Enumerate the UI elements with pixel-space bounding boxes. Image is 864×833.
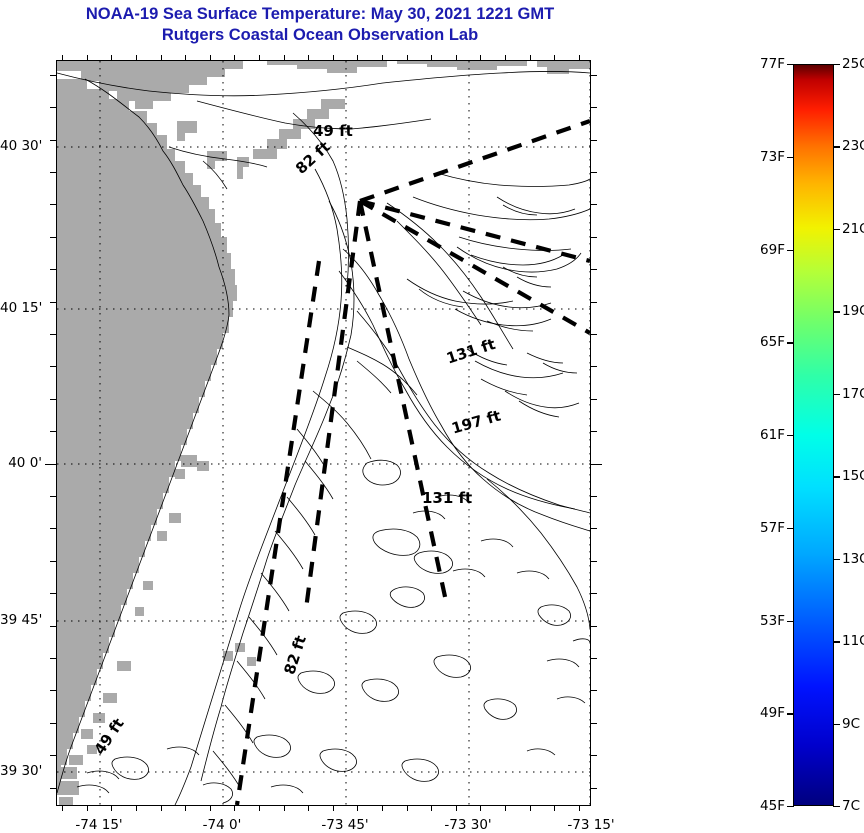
sst-map-page: NOAA-19 Sea Surface Temperature: May 30,… — [0, 0, 864, 832]
y-axis-tick — [50, 269, 56, 270]
colorbar-tick-fahrenheit — [787, 435, 794, 436]
colorbar-label-celsius: 9C — [842, 716, 860, 732]
x-axis-label: -74 15' — [75, 817, 122, 833]
colorbar-label-fahrenheit: 77F — [735, 56, 785, 72]
map-panel[interactable] — [56, 60, 591, 806]
y-axis-tick — [50, 75, 56, 76]
y-axis-label: 40 15' — [0, 300, 42, 316]
colorbar-tick-fahrenheit — [787, 250, 794, 251]
y-axis-tick — [591, 528, 597, 529]
x-axis-tick — [308, 55, 309, 60]
colorbar-tick-fahrenheit — [787, 64, 794, 65]
colorbar-tick-celsius — [833, 724, 840, 725]
y-axis-tick — [591, 788, 597, 789]
y-axis-tick — [591, 302, 597, 303]
y-axis-tick — [50, 302, 56, 303]
colorbar-tick-fahrenheit — [787, 342, 794, 343]
y-axis-tick — [591, 269, 597, 270]
x-axis-tick — [284, 55, 285, 60]
y-axis-tick — [50, 431, 56, 432]
colorbar-tick-celsius — [833, 476, 840, 477]
colorbar-tick-celsius — [833, 641, 840, 642]
page-title: NOAA-19 Sea Surface Temperature: May 30,… — [0, 4, 640, 46]
y-axis-tick — [591, 658, 597, 659]
y-axis-tick — [591, 334, 597, 335]
x-axis-tick — [357, 55, 358, 60]
x-axis-tick — [357, 806, 358, 811]
colorbar-label-celsius: 25C — [842, 56, 864, 72]
x-axis-tick — [530, 806, 531, 811]
y-axis-tick — [50, 172, 56, 173]
y-axis-tick — [591, 75, 597, 76]
x-axis-tick — [210, 55, 211, 60]
y-axis-tick — [50, 496, 56, 497]
colorbar-label-fahrenheit: 53F — [735, 613, 785, 629]
x-axis-tick — [308, 806, 309, 811]
x-axis-tick — [579, 55, 580, 60]
y-axis-tick — [50, 690, 56, 691]
x-axis-tick — [234, 55, 235, 60]
x-axis-tick — [382, 806, 383, 811]
x-axis-tick — [554, 55, 555, 60]
colorbar-label-celsius: 19C — [842, 303, 864, 319]
y-axis-tick — [591, 755, 597, 756]
x-axis-tick — [62, 55, 63, 60]
x-axis-tick — [480, 55, 481, 60]
colorbar-tick-fahrenheit — [787, 713, 794, 714]
colorbar-tick-fahrenheit — [787, 621, 794, 622]
colorbar-label-fahrenheit: 57F — [735, 520, 785, 536]
x-axis-tick — [284, 806, 285, 811]
colorbar-tick-celsius — [833, 394, 840, 395]
colorbar-tick-celsius — [833, 806, 840, 807]
y-axis-tick — [591, 464, 602, 465]
y-axis-tick — [591, 366, 597, 367]
x-axis-tick — [407, 55, 408, 60]
colorbar-tick-celsius — [833, 559, 840, 560]
y-axis-tick — [591, 172, 597, 173]
colorbar-label-fahrenheit: 69F — [735, 242, 785, 258]
y-axis-tick — [50, 658, 56, 659]
colorbar-label-fahrenheit: 73F — [735, 149, 785, 165]
y-axis-tick — [50, 561, 56, 562]
y-axis-label: 39 45' — [0, 612, 42, 628]
x-axis-tick — [161, 806, 162, 811]
colorbar-tick-fahrenheit — [787, 157, 794, 158]
x-axis-tick — [87, 806, 88, 811]
x-axis-tick — [136, 806, 137, 811]
y-axis-tick — [591, 496, 597, 497]
colorbar-tick-celsius — [833, 229, 840, 230]
y-axis-tick — [50, 593, 56, 594]
colorbar-label-fahrenheit: 61F — [735, 427, 785, 443]
x-axis-tick — [505, 55, 506, 60]
x-axis-tick — [185, 55, 186, 60]
x-axis-label: -73 15' — [567, 817, 614, 833]
colorbar-label-celsius: 11C — [842, 633, 864, 649]
x-axis-tick — [382, 55, 383, 60]
x-axis-label: -73 45' — [321, 817, 368, 833]
y-axis-tick — [591, 431, 597, 432]
y-axis-tick — [591, 723, 597, 724]
colorbar-label-celsius: 23C — [842, 138, 864, 154]
colorbar-tick-celsius — [833, 146, 840, 147]
y-axis-tick — [50, 237, 56, 238]
colorbar-tick-celsius — [833, 64, 840, 65]
colorbar-tick-fahrenheit — [787, 528, 794, 529]
x-axis-tick — [480, 806, 481, 811]
title-line-1: NOAA-19 Sea Surface Temperature: May 30,… — [0, 4, 640, 25]
y-axis-tick — [50, 626, 56, 627]
x-axis-tick — [111, 55, 112, 60]
y-axis-tick — [50, 334, 56, 335]
x-axis-tick — [530, 55, 531, 60]
map-graphics — [57, 61, 590, 805]
x-axis-tick — [259, 806, 260, 811]
y-axis-tick — [50, 723, 56, 724]
x-axis-tick — [185, 806, 186, 811]
y-axis-tick — [45, 464, 56, 465]
y-axis-tick — [591, 107, 597, 108]
colorbar-label-celsius: 21C — [842, 221, 864, 237]
x-axis-tick — [234, 806, 235, 811]
x-axis-tick — [505, 806, 506, 811]
title-line-2: Rutgers Coastal Ocean Observation Lab — [0, 25, 640, 46]
y-axis-tick — [591, 593, 597, 594]
x-axis-tick — [407, 806, 408, 811]
colorbar-label-fahrenheit: 65F — [735, 334, 785, 350]
colorbar-label-celsius: 15C — [842, 468, 864, 484]
y-axis-tick — [50, 399, 56, 400]
colorbar-tick-celsius — [833, 311, 840, 312]
x-axis-tick — [136, 55, 137, 60]
x-axis-tick — [333, 55, 334, 60]
y-axis-tick — [591, 626, 597, 627]
map-canvas — [57, 61, 590, 805]
x-axis-tick — [87, 55, 88, 60]
y-axis-label: 40 0' — [0, 455, 42, 471]
x-axis-label: -73 30' — [444, 817, 491, 833]
y-axis-tick — [50, 204, 56, 205]
x-axis-tick — [579, 806, 580, 811]
y-axis-label: 39 30' — [0, 763, 42, 779]
y-axis-tick — [591, 561, 597, 562]
x-axis-tick — [456, 806, 457, 811]
y-axis-tick — [50, 366, 56, 367]
y-axis-tick — [50, 528, 56, 529]
x-axis-tick — [554, 806, 555, 811]
x-axis-label: -74 0' — [203, 817, 242, 833]
y-axis-tick — [591, 399, 597, 400]
colorbar-tick-fahrenheit — [787, 806, 794, 807]
y-axis-tick — [591, 140, 597, 141]
colorbar-label-celsius: 17C — [842, 386, 864, 402]
x-axis-tick — [161, 55, 162, 60]
x-axis-tick — [431, 55, 432, 60]
colorbar-label-fahrenheit: 45F — [735, 798, 785, 814]
x-axis-tick — [431, 806, 432, 811]
depth-contour-label: 131 ft — [422, 489, 472, 507]
colorbar-label-fahrenheit: 49F — [735, 705, 785, 721]
x-axis-tick — [456, 55, 457, 60]
colorbar-label-celsius: 13C — [842, 551, 864, 567]
x-axis-tick — [62, 806, 63, 811]
x-axis-tick — [333, 806, 334, 811]
colorbar-gradient — [794, 65, 833, 805]
x-axis-tick — [210, 806, 211, 811]
x-axis-tick — [259, 55, 260, 60]
y-axis-tick — [50, 755, 56, 756]
depth-contour-label: 49 ft — [313, 122, 353, 140]
y-axis-tick — [50, 107, 56, 108]
y-axis-label: 40 30' — [0, 138, 42, 154]
colorbar-label-celsius: 7C — [842, 798, 860, 814]
temperature-colorbar[interactable] — [793, 64, 834, 806]
y-axis-tick — [50, 788, 56, 789]
y-axis-tick — [591, 204, 597, 205]
y-axis-tick — [591, 237, 597, 238]
y-axis-tick — [50, 140, 56, 141]
x-axis-tick — [111, 806, 112, 811]
y-axis-tick — [591, 690, 597, 691]
